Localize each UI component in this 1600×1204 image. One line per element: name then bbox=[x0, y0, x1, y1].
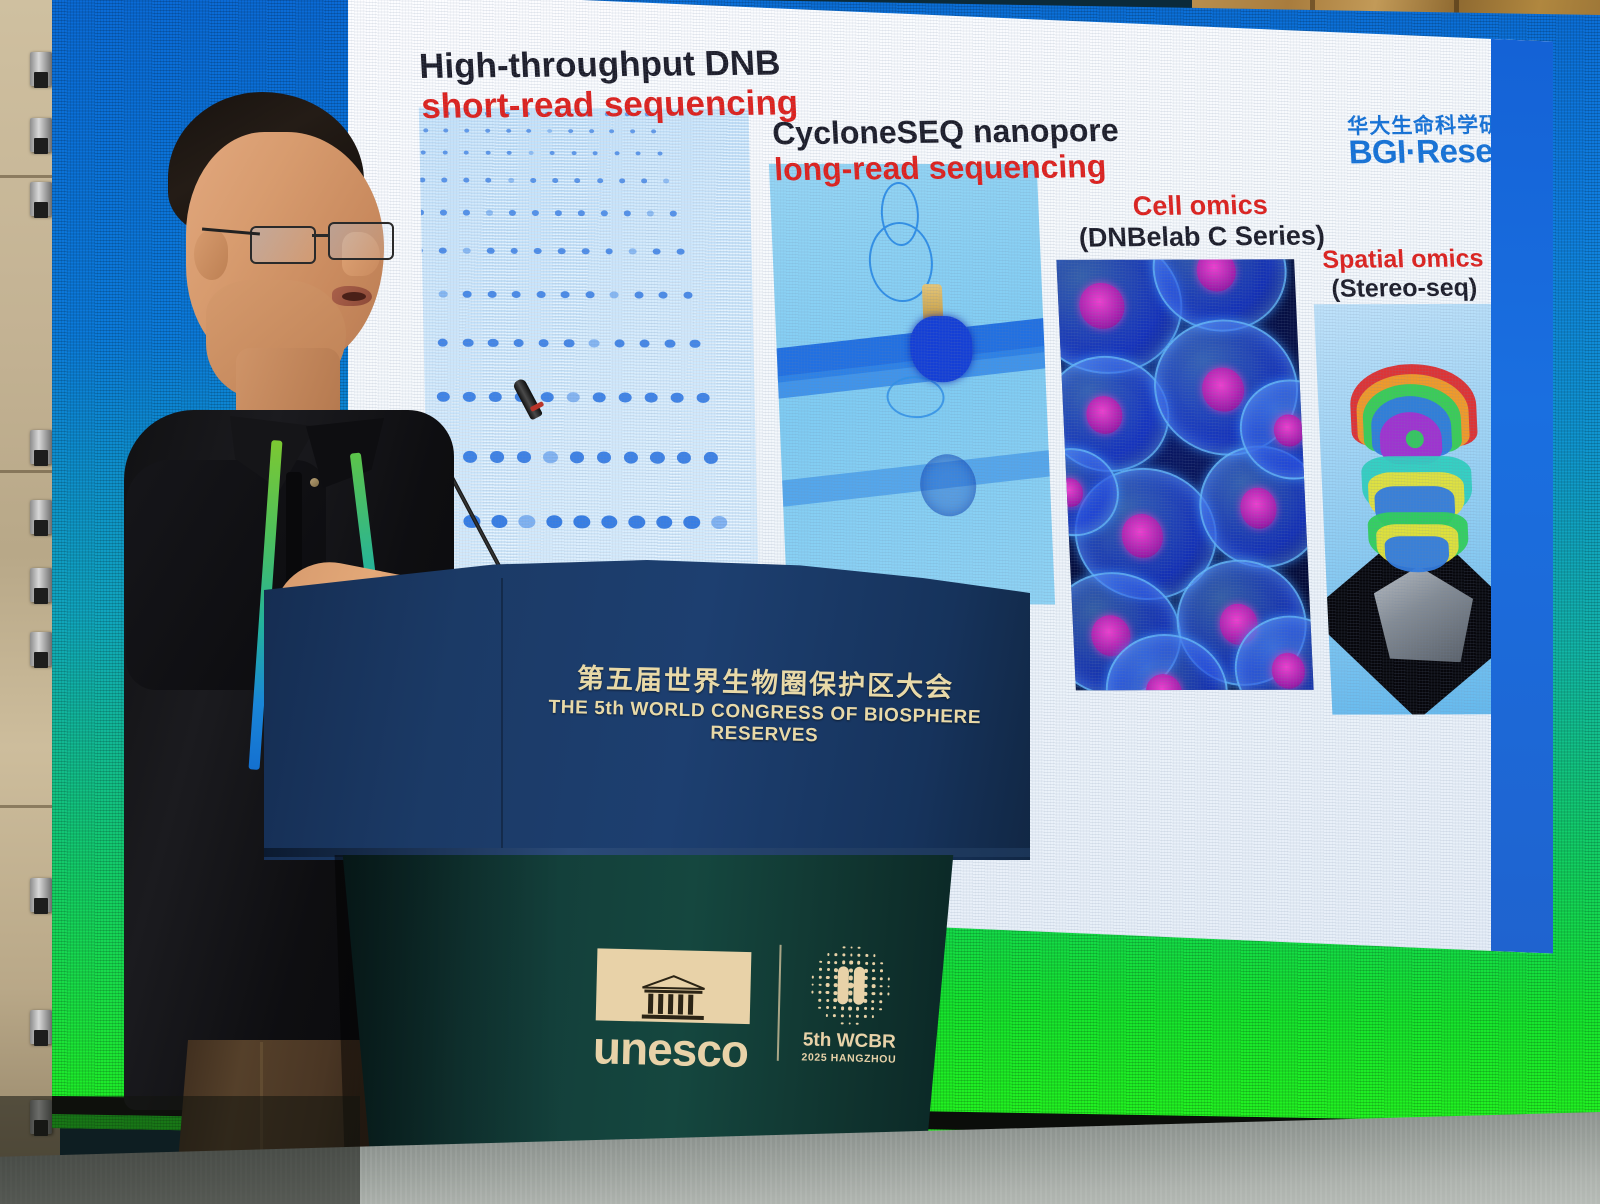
unesco-temple-emblem bbox=[596, 948, 752, 1024]
wcbr-logo: 5th WCBR 2025 HANGZHOU bbox=[801, 941, 900, 1065]
floor-shadow bbox=[0, 1096, 360, 1204]
wcbr-sphere-icon bbox=[807, 942, 895, 1030]
conference-photo-scene: High-throughput DNB short-read sequencin… bbox=[0, 0, 1600, 1204]
logo-divider bbox=[777, 945, 782, 1061]
greek-temple-icon bbox=[638, 973, 709, 1023]
speaker-ear bbox=[194, 230, 228, 280]
slide-right-band bbox=[1491, 39, 1553, 954]
podium-logo-group: unesco 5th WCBR 2025 HANGZHOU bbox=[594, 936, 897, 1083]
speaker-glasses bbox=[250, 222, 394, 262]
wall-left-panels bbox=[0, 0, 60, 1204]
unesco-wordmark: unesco bbox=[592, 1024, 748, 1074]
podium-congress-title: 第五届世界生物圈保护区大会 THE 5th WORLD CONGRESS OF … bbox=[519, 662, 1011, 752]
